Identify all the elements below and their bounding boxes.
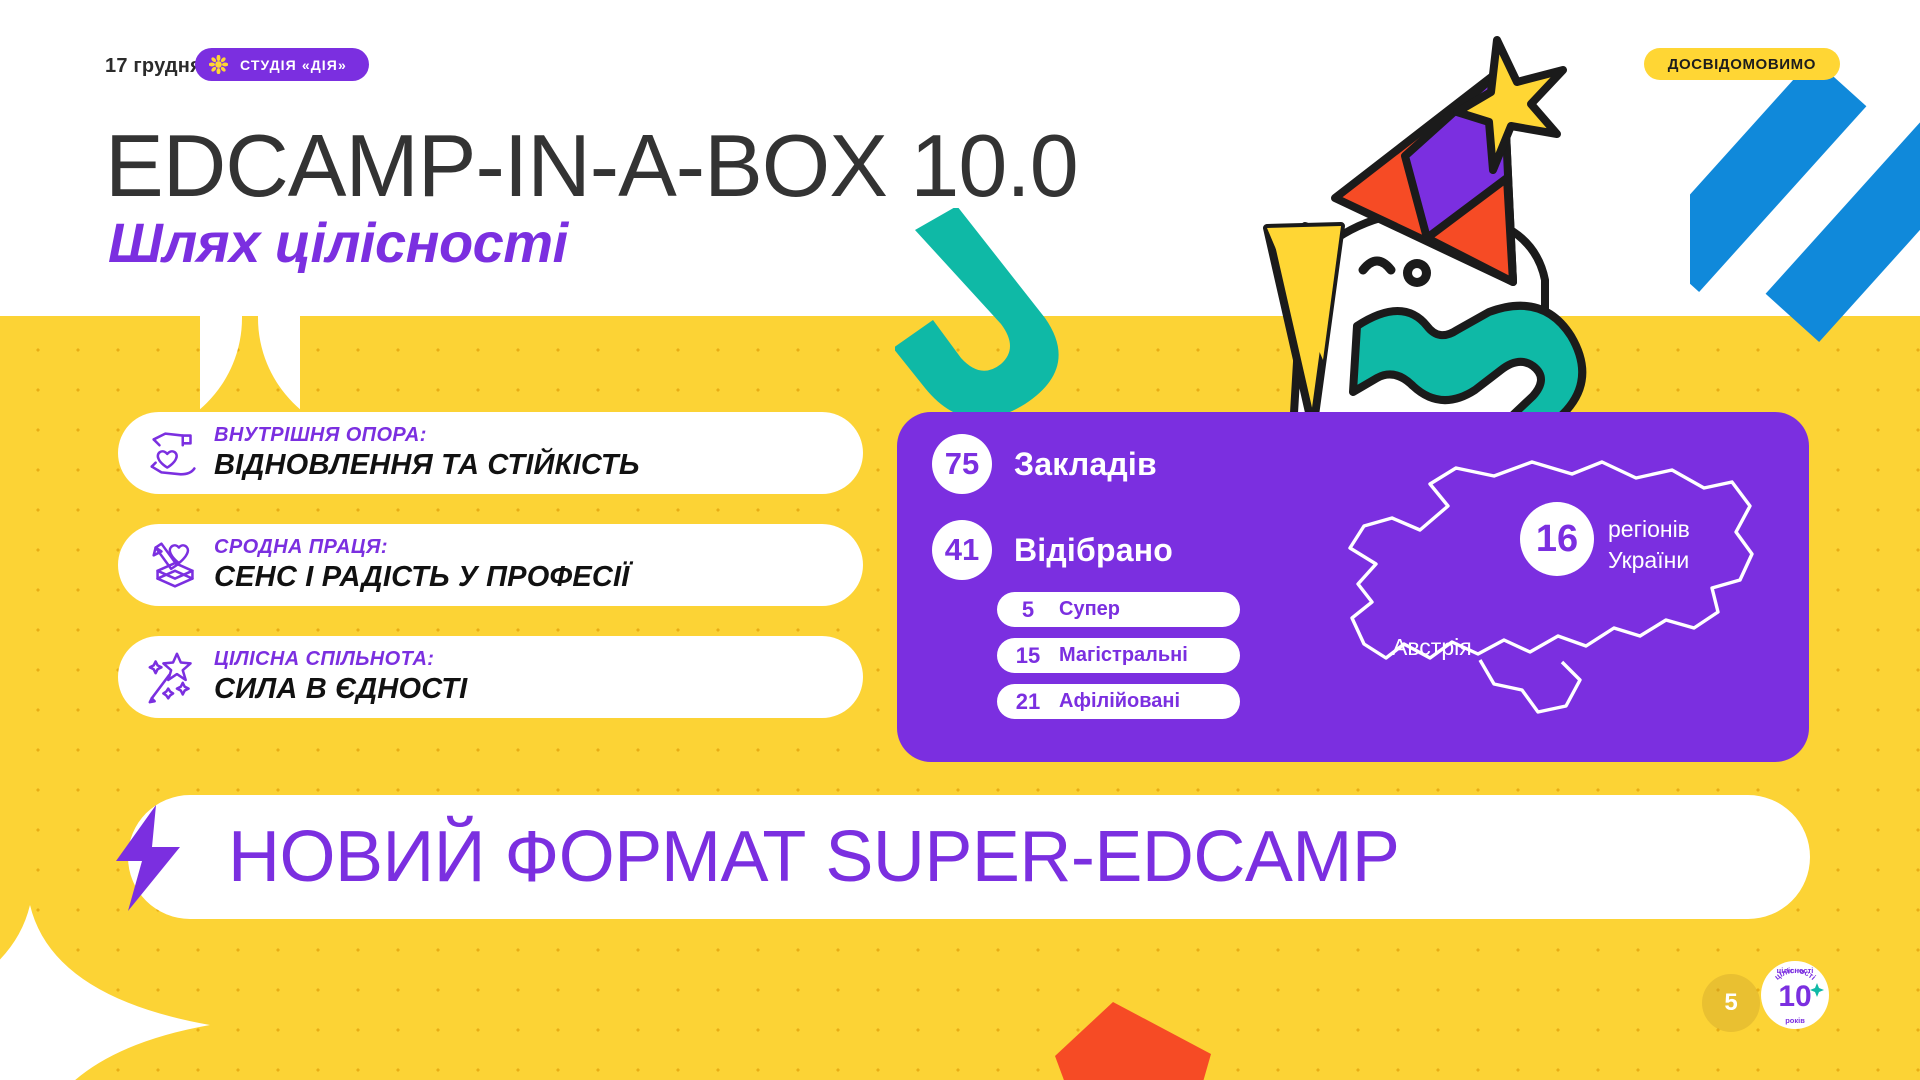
- breakdown-value: 15: [997, 643, 1059, 669]
- hand-heart-icon: [144, 422, 206, 484]
- region-label-line1: регіонів: [1608, 514, 1690, 545]
- region-count-label: регіонів України: [1608, 514, 1690, 576]
- feature-card-title: СЕНС І РАДІСТЬ У ПРОФЕСІЇ: [214, 560, 630, 595]
- magic-wand-sparkle-icon: [144, 646, 206, 708]
- teal-hook-shape: [895, 208, 1110, 433]
- feature-card-title: ВІДНОВЛЕННЯ ТА СТІЙКІСТЬ: [214, 448, 640, 483]
- studio-badge-label: СТУДІЯ «ДІЯ»: [240, 57, 347, 73]
- highlight-banner-text: НОВИЙ ФОРМАТ SUPER-EDCAMP: [228, 816, 1399, 898]
- feature-card-kicker: СРОДНА ПРАЦЯ:: [214, 535, 630, 560]
- feature-card[interactable]: ЦІЛІСНА СПІЛЬНОТА: СИЛА В ЄДНОСТІ: [118, 636, 863, 718]
- ukraine-map: 16 регіонів України Австрія: [1280, 422, 1800, 752]
- breakdown-pill-list: 5 Супер 15 Магістральні 21 Афілійовані: [997, 592, 1240, 719]
- stat-item: 75 Закладів: [932, 434, 1157, 494]
- orange-pentagon-shape: [1055, 1000, 1215, 1080]
- stat-label: Відібрано: [1014, 532, 1173, 569]
- breakdown-value: 5: [997, 597, 1059, 623]
- stat-value: 75: [932, 434, 992, 494]
- breakdown-pill[interactable]: 5 Супер: [997, 592, 1240, 627]
- top-bar: 17 грудня СТУДІЯ «ДІЯ» ДОСВІДОМОВИМО: [0, 48, 1920, 88]
- page-subtitle: Шлях цілісності: [108, 215, 568, 271]
- blue-diagonal-bars: [1690, 70, 1920, 400]
- white-starburst-shape: [0, 905, 210, 1080]
- feature-card-kicker: ЦІЛІСНА СПІЛЬНОТА:: [214, 647, 467, 672]
- feature-card[interactable]: СРОДНА ПРАЦЯ: СЕНС І РАДІСТЬ У ПРОФЕСІЇ: [118, 524, 863, 606]
- page-number-badge: 5: [1702, 974, 1760, 1032]
- books-pencil-heart-icon: [144, 534, 206, 596]
- unicorn-party-hat-mascot: [1245, 30, 1635, 430]
- highlight-banner[interactable]: НОВИЙ ФОРМАТ SUPER-EDCAMP: [128, 795, 1810, 919]
- flower-icon: [209, 55, 228, 74]
- stat-label: Закладів: [1014, 446, 1157, 483]
- slide-root: 17 грудня СТУДІЯ «ДІЯ» ДОСВІДОМОВИМО EDC: [0, 0, 1920, 1080]
- breakdown-value: 21: [997, 689, 1059, 715]
- svg-text:цілісності: цілісності: [1777, 966, 1814, 975]
- anniversary-bottom-text: років: [1785, 1016, 1805, 1025]
- region-label-line2: України: [1608, 545, 1690, 576]
- feature-card-kicker: ВНУТРІШНЯ ОПОРА:: [214, 423, 640, 448]
- lightning-bolt-icon: [98, 803, 196, 913]
- breakdown-pill[interactable]: 15 Магістральні: [997, 638, 1240, 673]
- stat-value: 41: [932, 520, 992, 580]
- feature-card-list: ВНУТРІШНЯ ОПОРА: ВІДНОВЛЕННЯ ТА СТІЙКІСТ…: [118, 412, 863, 718]
- breakdown-label: Магістральні: [1059, 644, 1188, 667]
- breakdown-label: Афілійовані: [1059, 690, 1180, 713]
- date-label: 17 грудня: [105, 55, 202, 78]
- anniversary-badge-icon: 10 цілісності цілісності років: [1760, 960, 1830, 1030]
- austria-label: Австрія: [1392, 634, 1472, 661]
- studio-badge[interactable]: СТУДІЯ «ДІЯ»: [195, 48, 369, 81]
- region-count-value: 16: [1520, 502, 1594, 576]
- stat-item: 41 Відібрано: [932, 520, 1173, 580]
- feature-card-title: СИЛА В ЄДНОСТІ: [214, 672, 467, 707]
- right-badge[interactable]: ДОСВІДОМОВИМО: [1644, 48, 1840, 80]
- ukraine-map-outline-icon: [1280, 422, 1800, 752]
- stats-panel: 75 Закладів 41 Відібрано 5 Супер 15 Магі…: [897, 412, 1809, 762]
- page-number: 5: [1724, 989, 1737, 1017]
- breakdown-label: Супер: [1059, 598, 1120, 621]
- anniversary-number: 10: [1778, 980, 1811, 1013]
- feature-card[interactable]: ВНУТРІШНЯ ОПОРА: ВІДНОВЛЕННЯ ТА СТІЙКІСТ…: [118, 412, 863, 494]
- page-title: EDCAMP-IN-A-BOX 10.0: [105, 122, 1078, 210]
- breakdown-pill[interactable]: 21 Афілійовані: [997, 684, 1240, 719]
